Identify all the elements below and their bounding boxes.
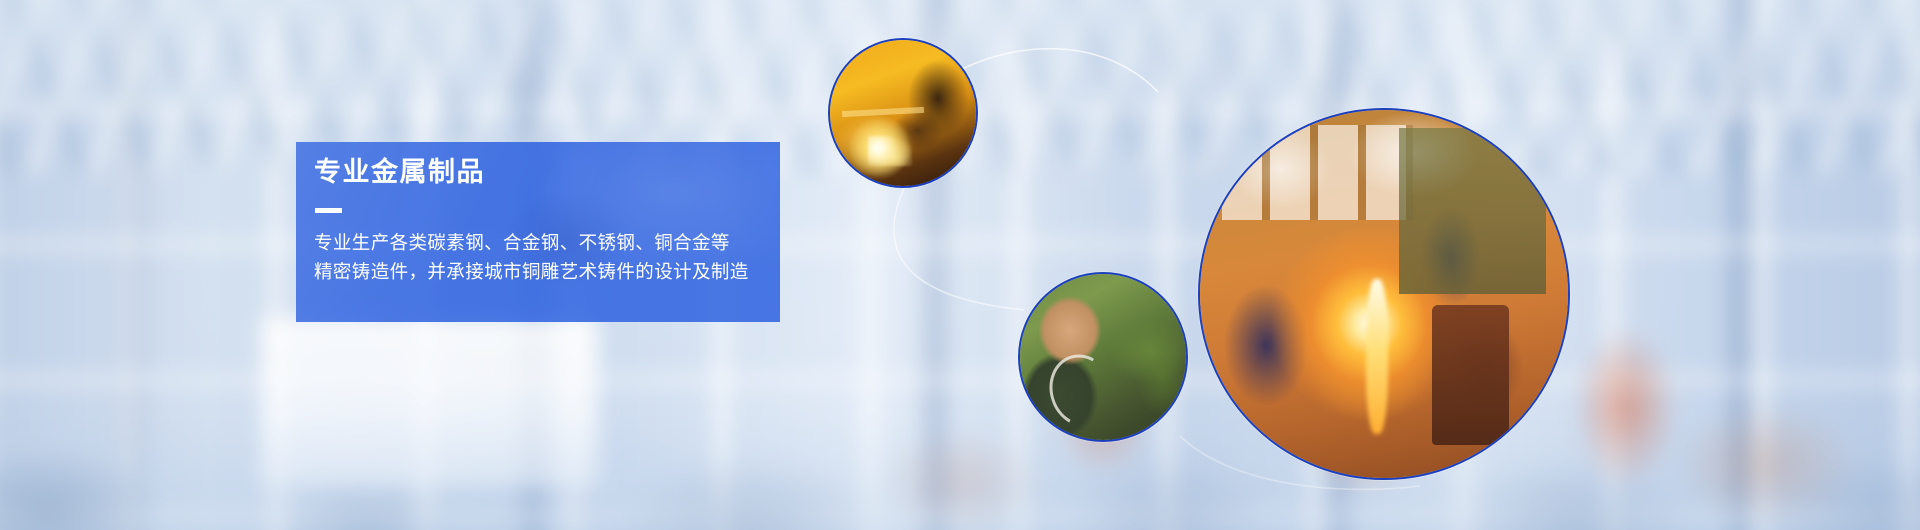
welding-photo bbox=[828, 38, 978, 188]
foundry-furnace-cabinet bbox=[1399, 128, 1546, 294]
panel-description-line-2: 精密铸造件，并承接城市铜雕艺术铸件的设计及制造 bbox=[314, 257, 874, 286]
inspection-photo bbox=[1018, 272, 1188, 442]
foundry-photo bbox=[1198, 108, 1570, 480]
molten-metal-pour bbox=[1366, 279, 1388, 434]
title-divider bbox=[315, 208, 342, 213]
foundry-ladle bbox=[1432, 305, 1509, 445]
panel-description-line-1: 专业生产各类碳素钢、合金钢、不锈钢、铜合金等 bbox=[314, 228, 874, 257]
foundry-windows bbox=[1222, 125, 1413, 221]
welding-sparks bbox=[868, 136, 912, 166]
hero-banner: 专业金属制品 专业生产各类碳素钢、合金钢、不锈钢、铜合金等 精密铸造件，并承接城… bbox=[0, 0, 1920, 530]
panel-title: 专业金属制品 bbox=[314, 158, 485, 188]
panel-description: 专业生产各类碳素钢、合金钢、不锈钢、铜合金等 精密铸造件，并承接城市铜雕艺术铸件… bbox=[314, 228, 874, 286]
